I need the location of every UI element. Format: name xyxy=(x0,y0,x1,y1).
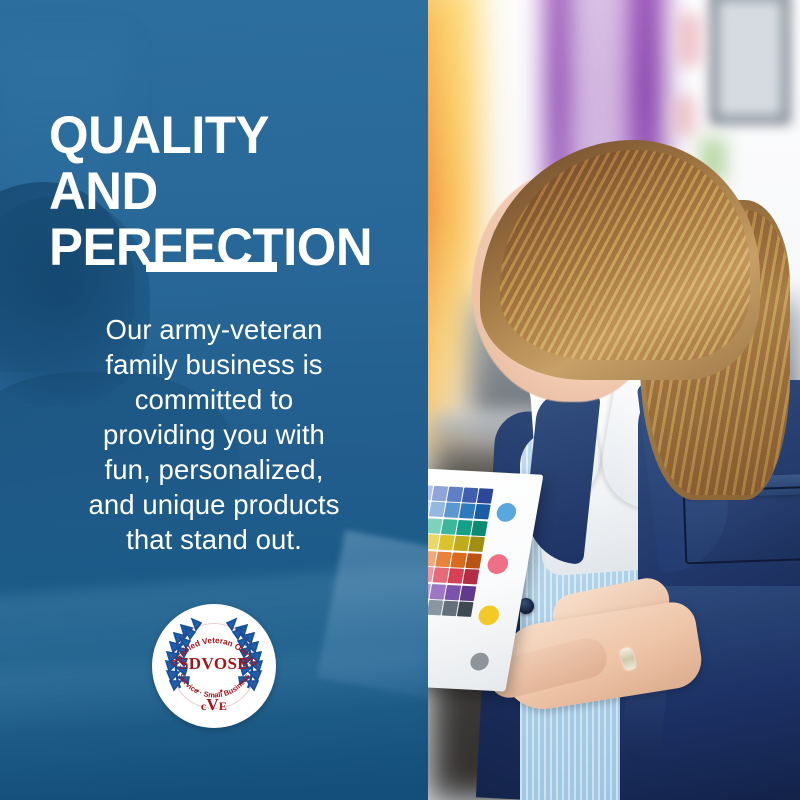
color-swatch-cell xyxy=(441,519,457,534)
page-title: QUALITY ANDPERFECTION xyxy=(49,108,385,276)
color-swatch-dot xyxy=(495,503,517,523)
color-swatch-cell xyxy=(459,504,475,519)
seal-cve-e: E xyxy=(219,699,227,713)
color-swatch-cell xyxy=(457,602,473,617)
sdvosb-seal: Disabled Veteran Owned Service · Small B… xyxy=(152,604,276,728)
seal-cve-mark: cVE xyxy=(152,695,276,715)
color-swatch-cell xyxy=(448,568,464,583)
color-swatch-cell xyxy=(427,600,443,615)
color-swatch-cell xyxy=(477,488,493,503)
color-swatch-cell xyxy=(469,537,485,552)
color-swatch-dot xyxy=(469,652,490,671)
color-swatch-cell xyxy=(460,585,476,600)
color-swatch-cell xyxy=(445,585,461,600)
promotional-graphic: QUALITY ANDPERFECTION Our army-veteranfa… xyxy=(0,0,800,800)
color-swatch-cell xyxy=(472,521,488,536)
color-swatch-cell xyxy=(426,518,442,533)
color-swatch-cell xyxy=(474,504,490,519)
color-swatch-cell xyxy=(433,568,449,583)
seal-cve-v: V xyxy=(206,695,218,714)
color-swatch-dot xyxy=(486,554,510,575)
title-divider xyxy=(146,262,277,272)
body-paragraph: Our army-veteranfamily business iscommit… xyxy=(24,312,404,557)
color-swatch-cell xyxy=(463,569,479,584)
color-swatch-cell xyxy=(442,601,458,616)
color-swatch-cell xyxy=(453,536,469,551)
color-swatch-cell xyxy=(447,487,463,502)
color-swatch-cell xyxy=(429,502,445,517)
color-swatch-dot xyxy=(477,605,501,626)
color-swatch-cell xyxy=(462,487,478,502)
color-swatch-cell xyxy=(451,552,467,567)
color-swatch-cell xyxy=(435,551,451,566)
color-swatch-cell xyxy=(456,520,472,535)
color-swatch-cell xyxy=(432,486,448,501)
color-swatch-cell xyxy=(444,503,460,518)
color-swatch-cell xyxy=(438,535,454,550)
seal-acronym: SDVOSB xyxy=(152,654,276,674)
color-swatch-cell xyxy=(430,584,446,599)
blue-overlay-panel: QUALITY ANDPERFECTION Our army-veteranfa… xyxy=(0,0,428,800)
color-swatch-cell xyxy=(466,553,482,568)
